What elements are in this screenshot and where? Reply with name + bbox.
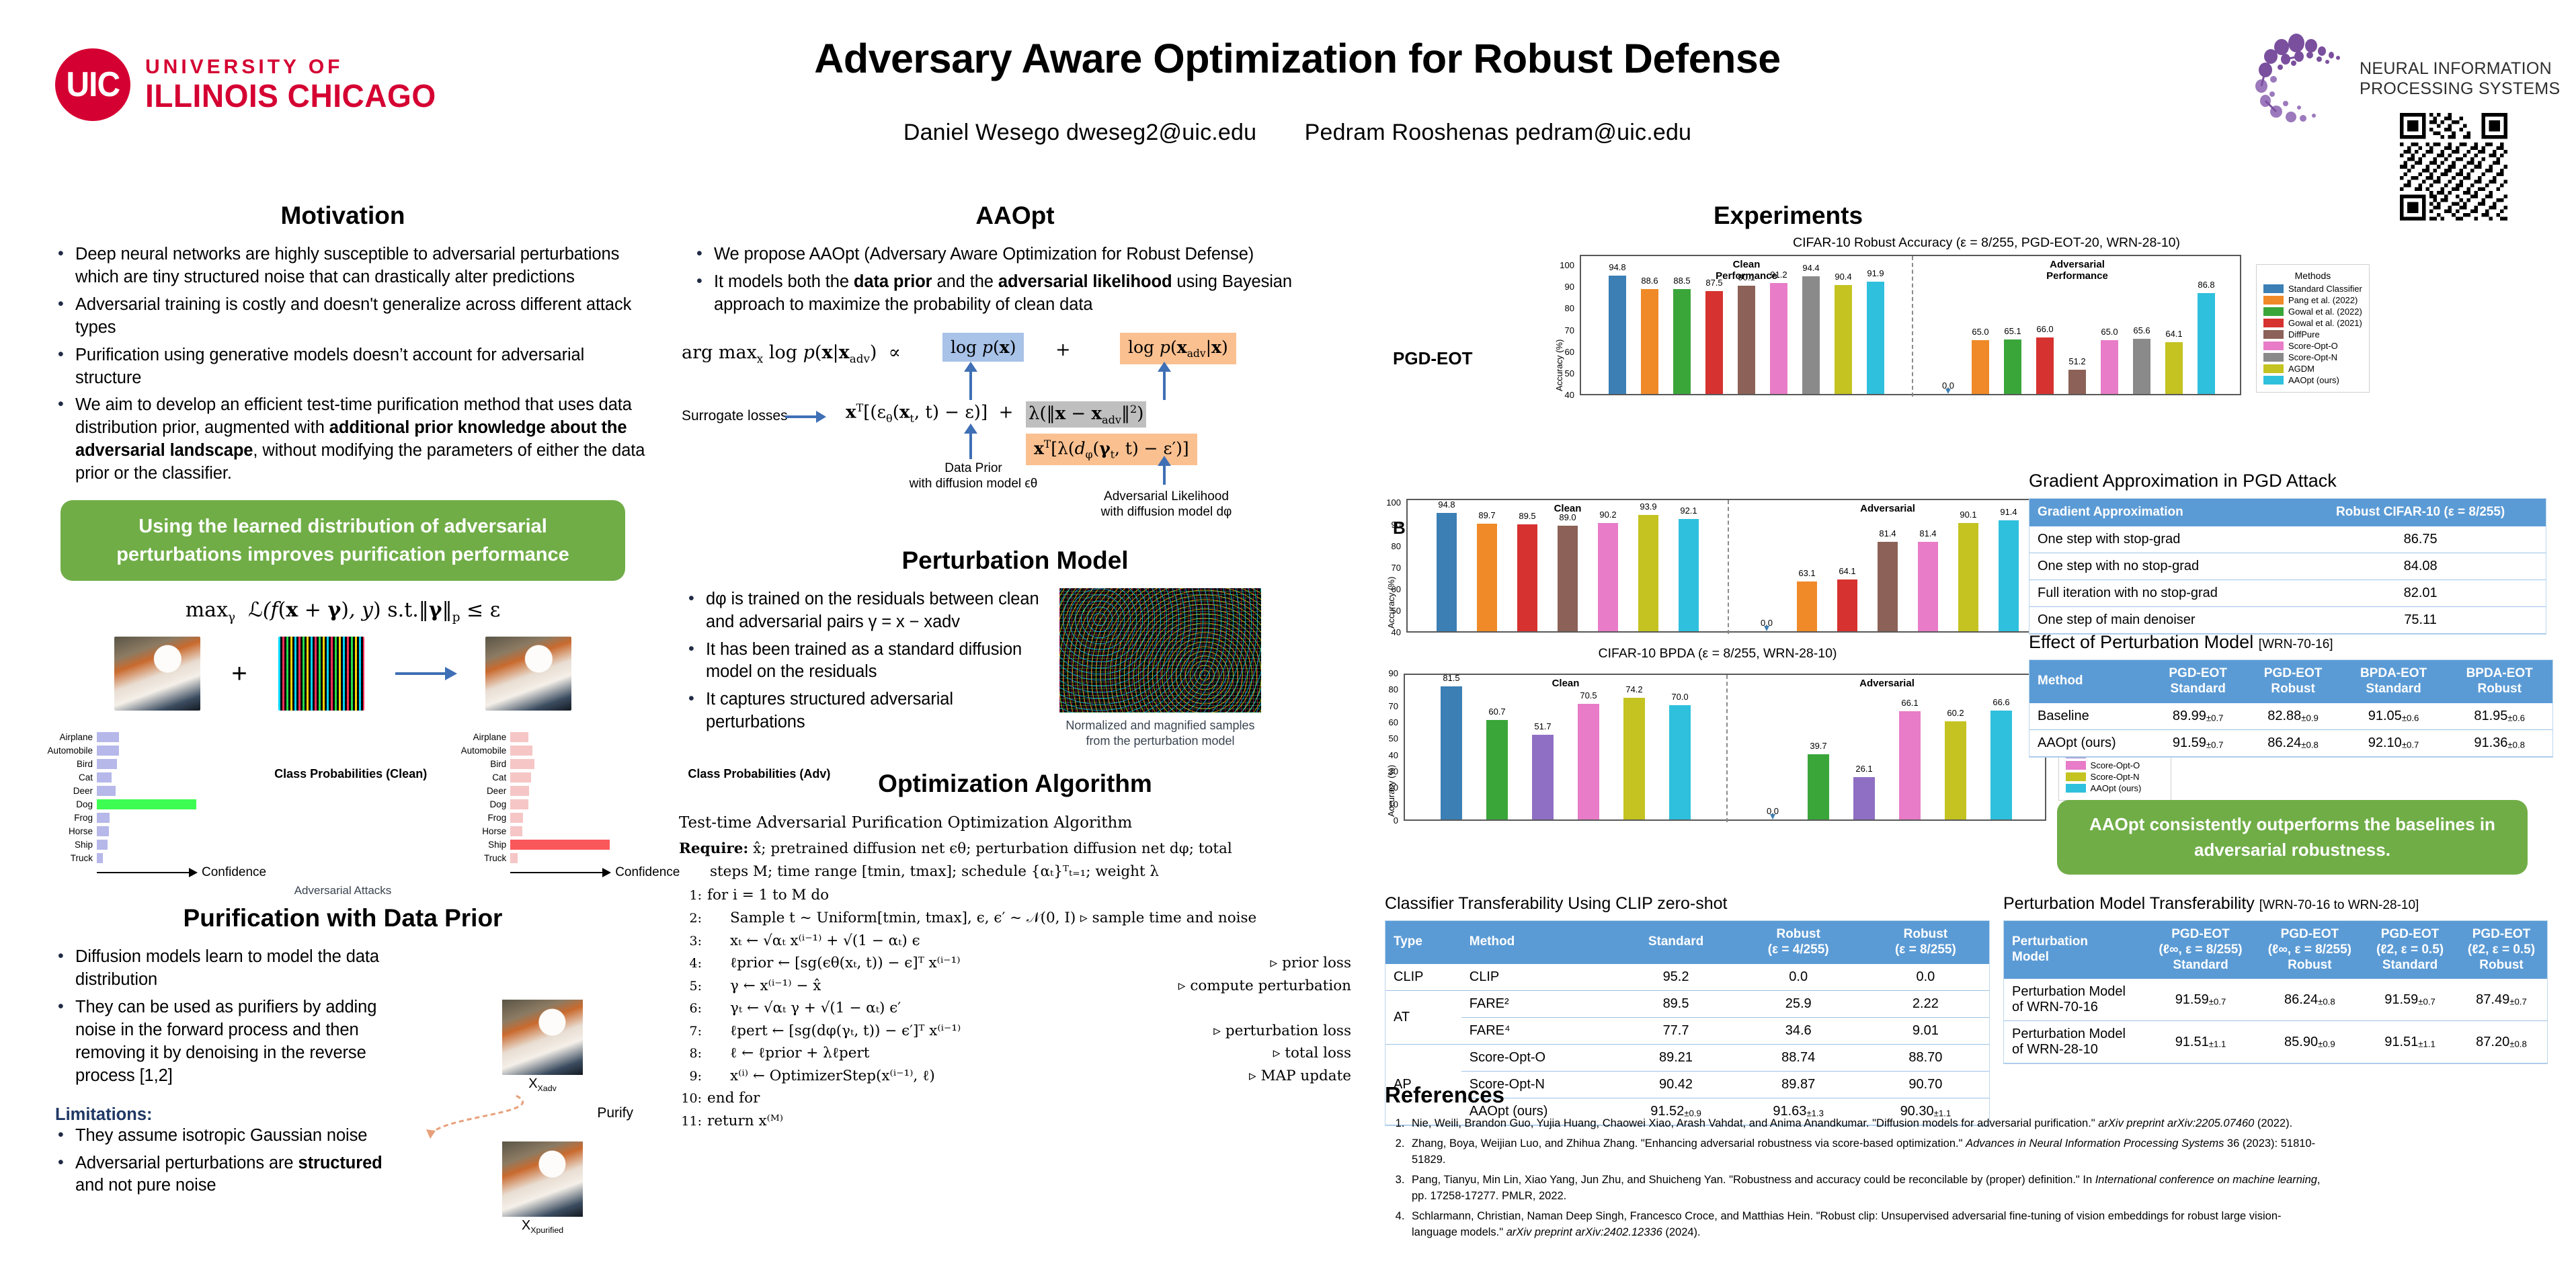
motivation-bullets: Deep neural networks are highly suscepti… [55,243,645,485]
panel-divider [1912,256,1913,397]
column-header: Gradient Approximation [2029,499,2295,526]
legend-label: AAOpt (ours) [2091,783,2142,793]
qr-code-icon[interactable] [2400,113,2507,220]
table-cell: 25.9 [1735,990,1862,1017]
bar-value-label: 92.1 [1672,506,1705,516]
list-item: Cat [40,771,266,783]
plot-area: Clean Performance94.888.688.587.590.191.… [1580,255,2241,395]
algorithm-require-line2: steps M; time range [tmin, tmax]; schedu… [679,860,1351,883]
pert-effect-title-main: Effect of Perturbation Model [2029,632,2253,652]
class-label: Dog [40,799,97,809]
table-cell: 2.22 [1862,990,1989,1017]
bar-value-label: 94.4 [1796,263,1826,273]
gradient-approximation-section: Gradient Approximation in PGD Attack Gra… [2029,471,2546,635]
chart-bar [1945,721,1966,819]
class-label: Cat [40,772,97,783]
chart-bar [2101,340,2118,394]
chart-bar [1878,542,1898,631]
neurips-line2: PROCESSING SYSTEMS [2360,79,2561,99]
y-axis-tick: 90 [1385,668,1398,678]
column-header: Method [1461,921,1617,964]
list-item: Adversarial training is costly and doesn… [55,294,645,339]
list-item: dφ is trained on the residuals between c… [686,588,1042,634]
adv-likelihood-caption: Adversarial Likelihood with diffusion mo… [1082,489,1250,521]
arrow-up-icon [1163,370,1166,400]
aaopt-heading: AAOpt [679,202,1351,230]
aaopt-b2-bold1: data prior [854,272,932,291]
adversarial-example-images: + [40,637,645,711]
table-cell: 89.99±0.7 [2150,703,2245,730]
data-prior-chip: log p(x) [942,333,1024,362]
line-code: ℓprior ← [sg(ϵθ(xₜ, t)) − ϵ]ᵀ x⁽ⁱ⁻¹⁾ [707,955,961,971]
class-label: Automobile [454,746,510,756]
probability-bar [97,786,116,796]
legend-item: Score-Opt-N [2263,352,2362,362]
arrow-up-icon [969,432,972,459]
purify-label: Purify [597,1105,633,1121]
table-cell-type: AT [1385,990,1461,1044]
algorithm-line: 7:ℓpert ← [sg(dφ(γₜ, t)) − ϵ′]ᵀ x⁽ⁱ⁻¹⁾▹ … [679,1020,1351,1043]
table-cell: 85.90±0.9 [2255,1021,2364,1064]
chart-bar [1477,524,1497,631]
y-axis-tick: 90 [1385,520,1401,530]
motivation-callout: Using the learned distribution of advers… [61,500,625,581]
arrow-up-icon [1163,465,1166,485]
gradient-table-title: Gradient Approximation in PGD Attack [2029,471,2546,491]
bar-value-label: 65.1 [1997,326,2028,336]
legend-label: Score-Opt-N [2288,352,2337,362]
confidence-label: Confidence [202,865,266,880]
chart-bar [2004,339,2021,394]
bar-value-label: 70.0 [1662,692,1697,702]
legend-swatch [2263,364,2284,373]
table-header-row: PerturbationModelPGD-EOT(ℓ∞, ε = 8/255)S… [2004,921,2547,979]
line-code: γ ← x⁽ⁱ⁻¹⁾ − x̂ [707,977,821,994]
arrow-right-icon [395,672,454,675]
line-number: 10: [679,1089,702,1109]
reference-text: Pang, Tianyu, Min Lin, Xiao Yang, Jun Zh… [1412,1174,2095,1186]
perturbation-samples-figure: Normalized and magnified samples from th… [1059,588,1261,750]
table-cell: 92.10±0.7 [2341,729,2447,756]
table-header-row: Gradient Approximation Robust CIFAR-10 (… [2029,499,2546,526]
legend-swatch [2263,319,2284,327]
chart-bar [1673,289,1691,394]
list-item: Bird [40,758,266,770]
table-cell: 91.59±0.7 [2364,979,2456,1021]
table-cell: 95.2 [1617,964,1734,991]
class-label: Dog [454,799,510,809]
algorithm-line: 3:xₜ ← √αₜ x⁽ⁱ⁻¹⁾ + √(1 − αₜ) ϵ [679,930,1351,953]
aaopt-bullets: We propose AAOpt (Adversary Aware Optimi… [694,243,1351,317]
y-axis-label: Accuracy (%) [1554,339,1564,391]
line-code: end for [707,1090,760,1107]
bar-chart: Clean94.889.789.589.090.293.992.1Adversa… [1385,497,2049,642]
author-1: Daniel Wesego dweseg2@uic.edu [903,120,1256,145]
line-code: for i = 1 to M do [707,887,829,904]
pert-effect-table-wrapper: MethodPGD-EOTStandardPGD-EOTRobustBPDA-E… [2029,659,2553,758]
reference-list: Nie, Weili, Brandon Guo, Yujia Huang, Ch… [1408,1116,2326,1240]
chart-bar [1558,526,1578,631]
y-axis-label: Accuracy (%) [1386,765,1396,817]
probability-bar [97,840,108,850]
algorithm-line: 8:ℓ ← ℓprior + λℓpert▹ total loss [679,1042,1351,1065]
chart-bar [1958,523,1978,631]
chart-bar [2133,339,2150,394]
list-item: Nie, Weili, Brandon Guo, Yujia Huang, Ch… [1408,1116,2326,1131]
table-cell: FARE⁴ [1461,1017,1617,1044]
chart-bar [1441,686,1462,819]
plot-area: Clean81.560.751.770.574.270.0Adversarial… [1404,674,2046,821]
legend-swatch [2263,330,2284,339]
purify-loop-arrow-icon [415,1093,557,1141]
bar-value-label: 91.2 [1763,270,1794,280]
list-item: Deep neural networks are highly suscepti… [55,243,645,289]
proportional-symbol: ∝ [889,342,901,363]
list-item: Purification using generative models doe… [55,344,645,390]
perturbation-effect-section: Effect of Perturbation Model [WRN-70-16]… [2029,632,2553,758]
table-cell: Full iteration with no stop-grad [2029,579,2295,606]
column-header: BPDA-EOTStandard [2341,660,2447,703]
list-item: Ship [454,838,680,850]
author-list: Daniel Wesego dweseg2@uic.edu Pedram Roo… [632,120,1963,146]
y-axis-tick: 80 [1553,303,1574,313]
algorithm-line: 10:end for [679,1087,1351,1110]
chart-bar [1679,519,1699,631]
line-code: return x⁽ᴹ⁾ [707,1113,783,1129]
table-cell: 86.75 [2295,526,2546,553]
line-number: 2: [679,909,702,929]
gradient-approximation-table: Gradient Approximation Robust CIFAR-10 (… [2029,499,2546,634]
line-number: 9: [679,1067,702,1087]
y-axis-tick: 100 [1385,497,1401,508]
table-cell: 89.21 [1617,1044,1734,1071]
class-label: Airplane [40,732,97,742]
probability-bar [97,732,119,742]
class-probability-charts: AirplaneAutomobileBirdCatDeerDogFrogHors… [40,731,645,880]
chart-bar [1638,515,1658,631]
table-cell: FARE² [1461,990,1617,1017]
list-item: Adversarial perturbations are structured… [55,1152,405,1198]
reference-text: Zhang, Boya, Weijian Luo, and Zhihua Zha… [1412,1137,1966,1150]
probability-bar [510,799,528,809]
column-header: PGD-EOT(ℓ2, ε = 0.5)Standard [2364,921,2456,979]
table-row: Perturbation Modelof WRN-70-1691.59±0.78… [2004,979,2547,1021]
chart-bar [1972,340,1989,394]
column-header: Method [2029,660,2150,703]
legend-label: Standard Classifier [2288,284,2362,294]
table-cell: 87.49±0.7 [2456,979,2547,1021]
objective-equation-lhs: arg maxx log p(x|xadv) ∝ [682,342,901,365]
chart-bar [1999,520,2019,631]
table-cell: 82.88±0.9 [2245,703,2340,730]
algorithm-lines: 1:for i = 1 to M do2:Sample t ~ Uniform[… [679,884,1351,1132]
perturbation-samples-caption: Normalized and magnified samples from th… [1059,718,1261,750]
confidence-label: Confidence [615,865,680,880]
table-cell: One step with no stop-grad [2029,553,2295,579]
table-cell: Perturbation Modelof WRN-28-10 [2004,1021,2146,1064]
experiments-heading: Experiments [1385,202,2191,230]
y-axis-tick: 40 [1385,750,1398,760]
list-item: Diffusion models learn to model the data… [55,946,405,992]
bar-value-label: 39.7 [1801,741,1836,751]
list-item: Truck [454,852,680,864]
chart-bar [1437,513,1457,631]
qr-code[interactable] [2400,113,2507,220]
legend-label: AAOpt (ours) [2288,375,2339,385]
reference-venue: arXiv preprint arXiv:2402.12336 [1506,1226,1662,1238]
limitations-bullets: They assume isotropic Gaussian noise Adv… [55,1125,405,1198]
table-cell: 34.6 [1735,1017,1862,1044]
table-cell: 84.08 [2295,553,2546,579]
surrogate-term-l2-struck: λ(‖x − xadv‖2) [1026,401,1146,428]
probability-bar [510,732,528,742]
y-axis-tick: 60 [1385,717,1398,727]
plot-area: Clean94.889.789.589.090.293.992.1Adversa… [1406,499,2046,633]
xadv-image-card: XXadv [445,1000,640,1093]
perturbation-model-heading: Perturbation Model [679,547,1351,575]
algorithm-subtitle: Test-time Adversarial Purification Optim… [679,811,1351,836]
chart-bar [1835,285,1852,394]
class-label: Horse [40,826,97,836]
bar-value-label: 51.7 [1525,721,1560,731]
chart-bar [2198,293,2215,394]
references-section: References Nie, Weili, Brandon Guo, Yuji… [1385,1082,2326,1245]
table-cell: AAOpt (ours) [2029,729,2150,756]
chart-bar [1808,754,1829,819]
surrogate-losses-label: Surrogate losses [682,408,788,424]
column-header: PGD-EOTStandard [2150,660,2245,703]
probability-bar [510,786,529,796]
probability-bar [97,772,112,783]
list-item: It models both the data prior and the ad… [694,271,1351,317]
bar-value-label: 90.1 [1951,510,1985,520]
y-axis-label: Accuracy (%) [1386,577,1396,629]
algorithm-require-label: Require: [679,840,748,857]
limitation2-bold: structured [298,1154,383,1172]
limitations-heading: Limitations: [55,1105,405,1125]
bar-value-label: 89.0 [1551,512,1584,522]
line-comment: ▹ prior loss [1271,952,1352,975]
table-cell: 0.0 [1735,964,1862,991]
adversarial-attacks-caption: Adversarial Attacks [40,884,645,897]
clean-probability-rows: AirplaneAutomobileBirdCatDeerDogFrogHors… [40,731,266,880]
line-number: 7: [679,1022,702,1042]
list-item: Deer [40,785,266,797]
xadv-sub: Xadv [538,1084,557,1093]
table-header-row: TypeMethodStandardRobust(ε = 4/255)Robus… [1385,921,1989,964]
uic-logo-mark-text: UIC [66,65,120,105]
table-header-row: MethodPGD-EOTStandardPGD-EOTRobustBPDA-E… [2029,660,2552,703]
list-item: Bird [454,758,680,770]
column-header: Robust(ε = 4/255) [1735,921,1862,964]
table-cell: 91.36±0.8 [2446,729,2552,756]
xadv-caption: XXadv [445,1076,640,1093]
legend-label: Score-Opt-O [2091,760,2140,770]
class-label: Ship [40,840,97,850]
table-cell: 91.51±1.1 [2146,1021,2255,1064]
legend-label: AGDM [2288,364,2315,374]
bar-value-label: 91.4 [1992,507,2025,517]
table-cell: 82.01 [2295,579,2546,606]
list-item: Dog [40,798,266,810]
probability-bar [510,746,532,756]
table-cell: 91.59±0.7 [2150,729,2245,756]
panel-label: Adversarial Performance [2037,259,2118,282]
column-header: Type [1385,921,1461,964]
class-label: Bird [454,759,510,769]
gradient-table-wrapper: Gradient Approximation Robust CIFAR-10 (… [2029,498,2546,635]
bar-value-label: 81.4 [1911,528,1945,538]
reference-venue: arXiv preprint arXiv:2205.07460 [2098,1117,2254,1129]
column-header: BPDA-EOTRobust [2446,660,2552,703]
probability-bar [97,853,103,863]
bar-value-label: 51.2 [2062,356,2093,366]
list-item: They can be used as purifiers by adding … [55,996,405,1088]
legend-item: Score-Opt-O [2263,341,2362,351]
legend-item: Score-Opt-O [2066,760,2164,770]
legend-item: AAOpt (ours) [2066,783,2164,793]
table-cell-type: CLIP [1385,964,1461,991]
table-cell: 77.7 [1617,1017,1734,1044]
table-cell: 81.95±0.6 [2446,703,2552,730]
pgd-eot-tag: PGD-EOT [1393,348,1472,369]
legend-label: Gowal et al. (2022) [2288,307,2362,317]
uic-logo-line2: ILLINOIS CHICAGO [145,81,436,113]
line-number: 5: [679,977,702,997]
chart-bar [1623,698,1645,819]
class-label: Frog [40,813,97,823]
list-item: Schlarmann, Christian, Naman Deep Singh,… [1408,1209,2326,1240]
equation-plus-sign: + [1055,339,1071,360]
table-cell: Perturbation Modelof WRN-70-16 [2004,979,2146,1021]
y-axis-tick: 0 [1385,815,1398,826]
bar-value-label: 91.9 [1860,268,1891,278]
line-comment: ▹ MAP update [1249,1065,1351,1088]
legend-swatch [2263,284,2284,293]
class-label: Horse [454,826,510,836]
chart-bar [1853,777,1875,820]
xpurified-sub: Xpurified [530,1226,563,1235]
column-header: PGD-EOT(ℓ2, ε = 0.5)Robust [2456,921,2547,979]
confidence-axis: Confidence [510,865,680,880]
clean-probability-chart: AirplaneAutomobileBirdCatDeerDogFrogHors… [40,731,427,880]
line-code: γₜ ← √αₜ γ + √(1 − αₜ) ϵ′ [707,1000,901,1016]
chart-bar [1609,276,1626,394]
panel-label: Clean [1525,678,1606,689]
chart-bar [1867,282,1884,394]
pert-transfer-table-wrapper: PerturbationModelPGD-EOT(ℓ∞, ε = 8/255)S… [2003,920,2548,1064]
algorithm-line: 11:return x⁽ᴹ⁾ [679,1110,1351,1133]
reference-tail: (2024). [1662,1226,1701,1238]
probability-bar [510,840,610,850]
legend-item: AAOpt (ours) [2263,375,2362,385]
probability-bar [97,759,117,769]
confidence-axis: Confidence [97,865,266,880]
table-row: Full iteration with no stop-grad82.01 [2029,579,2546,606]
clip-table-title: Classifier Transferability Using CLIP ze… [1385,894,1990,914]
table-cell: One step with stop-grad [2029,526,2295,553]
surrogate-term-perturbation: xT[λ(dφ(γt, t) − ε′)] [1026,434,1197,465]
bar-chart: Clean Performance94.888.688.587.590.191.… [1553,253,2245,405]
line-number: 6: [679,999,702,1019]
bar-value-label: 81.4 [1871,528,1904,538]
table-cell: One step of main denoiser [2029,606,2295,633]
column-header: Standard [1617,921,1734,964]
table-row: One step with no stop-grad84.08 [2029,553,2546,579]
chart1-title: CIFAR-10 Robust Accuracy (ε = 8/255, PGD… [1553,235,2420,251]
column-header: Robust CIFAR-10 (ε = 8/255) [2295,499,2546,526]
xpurified-image-card: XXpurified [445,1141,640,1235]
adversarial-image-thumbnail [485,637,571,711]
bar-value-label: 66.6 [1984,697,2019,707]
column-header: Robust(ε = 8/255) [1862,921,1989,964]
chart-bar [2165,342,2183,394]
adv-likelihood-caption-l2: with diffusion model dφ [1082,504,1250,520]
legend-item: Gowal et al. (2022) [2263,307,2362,317]
list-item: Automobile [454,744,680,756]
class-label: Deer [454,786,510,796]
legend-item: DiffPure [2263,329,2362,339]
line-code: ℓpert ← [sg(dφ(γₜ, t)) − ϵ′]ᵀ x⁽ⁱ⁻¹⁾ [707,1022,961,1039]
perturbation-transferability-section: Perturbation Model Transferability [WRN-… [2003,894,2548,1064]
algorithm-line: 1:for i = 1 to M do [679,884,1351,907]
page-title: Adversary Aware Optimization for Robust … [632,35,1963,82]
legend-swatch [2263,376,2284,385]
y-axis-tick: 70 [1553,325,1574,335]
bar-value-label: 60.7 [1480,707,1515,717]
bar-value-label: 94.8 [1430,499,1463,510]
clean-chart-title: Class Probabilities (Clean) [274,767,427,781]
table-cell: 0.0 [1862,964,1989,991]
zero-marker-icon [1764,626,1769,631]
bar-value-label: 63.1 [1790,568,1824,578]
uic-logo: UIC UNIVERSITY OF ILLINOIS CHICAGO [55,48,448,121]
chart-cifar10-pgd-eot: CIFAR-10 Robust Accuracy (ε = 8/255, PGD… [1553,235,2420,405]
bar-value-label: 90.2 [1591,510,1625,520]
uic-logo-line1: UNIVERSITY OF [145,57,448,77]
list-item: Airplane [454,731,680,743]
clean-image-thumbnail [114,637,200,711]
legend-item: AGDM [2263,364,2362,374]
author-2: Pedram Rooshenas pedram@uic.edu [1305,120,1692,145]
legend-label: Pang et al. (2022) [2288,295,2358,305]
list-item: They assume isotropic Gaussian noise [55,1125,405,1148]
chart-bar [1641,289,1658,394]
bar-value-label: 70.5 [1571,690,1606,700]
algorithm-line: 4:ℓprior ← [sg(ϵθ(xₜ, t)) − ϵ]ᵀ x⁽ⁱ⁻¹⁾▹ … [679,952,1351,975]
algorithm-pseudocode: Test-time Adversarial Purification Optim… [679,811,1351,1133]
legend-label: Gowal et al. (2021) [2288,318,2362,328]
neurips-swirl-icon [2252,28,2353,129]
line-comment: ▹ total loss [1273,1042,1351,1065]
zero-marker-icon [1770,814,1775,819]
table-cell: 89.5 [1617,990,1734,1017]
y-axis-tick: 40 [1385,627,1401,637]
table-row: ATFARE²89.525.92.22 [1385,990,1989,1017]
table-row: CLIPCLIP95.20.00.0 [1385,964,1989,991]
algorithm-line: 2:Sample t ~ Uniform[tmin, tmax], ϵ, ϵ′ … [679,907,1351,930]
data-prior-caption-l2: with diffusion model ϵθ [906,476,1041,492]
table-cell: 88.70 [1862,1044,1989,1071]
table-cell: 75.11 [2295,606,2546,633]
class-label: Bird [40,759,97,769]
table-cell: 88.74 [1735,1044,1862,1071]
column-left: Motivation Deep neural networks are high… [40,202,645,1255]
line-number: 1: [679,886,702,906]
list-item: Ship [40,838,266,850]
line-number: 11: [679,1112,702,1132]
y-axis-tick: 50 [1385,733,1398,744]
